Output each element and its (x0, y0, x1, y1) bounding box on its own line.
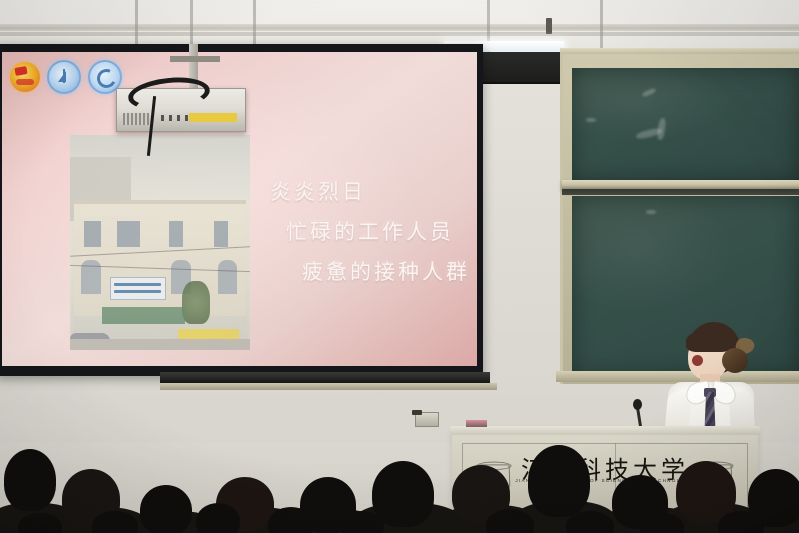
hair-bun (722, 348, 748, 373)
photo-awning (102, 307, 185, 324)
screen-bottom-trim (160, 383, 497, 390)
audience-head (640, 513, 684, 533)
chalk-tray (562, 180, 799, 189)
photo-window (84, 221, 100, 247)
audience-head (718, 511, 764, 533)
photo-signboard (110, 277, 166, 301)
projector-vent (123, 113, 149, 125)
audience-head (196, 503, 240, 533)
audience-head (268, 507, 314, 533)
audience-head (486, 509, 534, 533)
ceiling-rail (0, 24, 799, 31)
photo-window (214, 221, 228, 247)
audience-head (92, 511, 138, 533)
projector-sticker (189, 113, 237, 122)
chalk-tray-shadow (562, 189, 799, 195)
photo-window (169, 221, 183, 247)
ceiling-sensor-icon (546, 18, 552, 34)
university-seal-icon (47, 60, 81, 94)
audience-head (4, 449, 56, 511)
audience-head (566, 511, 614, 533)
chalk-mark (657, 118, 667, 141)
communist-youth-league-icon (10, 62, 40, 92)
slide-line-3: 疲惫的接种人群 (302, 262, 470, 283)
ceiling-rail-shadow (0, 32, 799, 36)
slide-text-block: 炎炎烈日 忙碌的工作人员 疲惫的接种人群 (270, 182, 470, 302)
audience-row (0, 413, 799, 533)
photo-tree (182, 281, 211, 324)
audience-head (140, 485, 192, 533)
audience-head (340, 511, 384, 533)
slide-line-2: 忙碌的工作人员 (286, 222, 470, 243)
projector-mount-bracket (170, 56, 220, 62)
audience-head (528, 445, 590, 517)
slide-embedded-photo (70, 135, 250, 350)
chalk-mark (642, 87, 657, 97)
photo-yellow-banner (178, 329, 239, 340)
chalkboard-upper-panel (572, 68, 799, 181)
audience-head (18, 513, 62, 533)
chalk-mark (646, 210, 656, 214)
audience-head (372, 461, 434, 527)
photo-arch-window (218, 260, 238, 294)
gooseneck-microphone-icon (633, 399, 642, 410)
hair-front (686, 330, 730, 352)
slide-logo-row (10, 60, 122, 94)
mouth (692, 355, 703, 366)
lecture-hall-photo: 炎炎烈日 忙碌的工作人员 疲惫的接种人群 (0, 0, 799, 533)
slide-line-1: 炎炎烈日 (270, 182, 470, 203)
photo-road (70, 339, 250, 350)
chalk-mark (586, 118, 596, 122)
photo-window (117, 221, 140, 247)
